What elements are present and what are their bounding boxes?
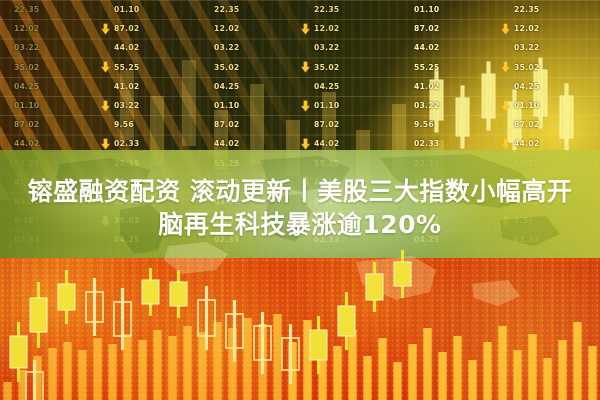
candlestick — [282, 324, 299, 384]
candlestick — [170, 270, 187, 318]
ticker-value: 03.22 — [100, 101, 200, 110]
ticker-value: 35.02 — [300, 63, 400, 72]
candlestick — [30, 282, 47, 348]
ticker-value: 01.10 — [400, 5, 500, 14]
ticker-value: 04.25 — [200, 82, 300, 91]
ticker-value: 22.35 — [0, 5, 100, 14]
candlestick-chart — [0, 240, 600, 400]
ticker-value: 44.02 — [200, 139, 300, 148]
ticker-value: 44.02 — [100, 43, 200, 52]
ticker-value: 03.22 — [200, 43, 300, 52]
ticker-value: 87.02 — [200, 120, 300, 129]
ticker-value: 35.02 — [0, 63, 100, 72]
candlestick — [86, 278, 103, 336]
arrow-down-icon — [101, 138, 110, 149]
ticker-value: 35.02 — [500, 63, 600, 72]
ticker-value: 12.02 — [500, 24, 600, 33]
ticker-value: 03.22 — [0, 43, 100, 52]
ticker-value: 04.25 — [0, 82, 100, 91]
candlestick — [394, 250, 411, 298]
ticker-value: 41.02 — [100, 82, 200, 91]
arrow-down-icon — [301, 138, 310, 149]
arrow-down-icon — [301, 100, 310, 111]
arrow-down-icon — [301, 23, 310, 34]
candlestick — [10, 322, 27, 382]
candlestick — [26, 360, 43, 400]
candlestick — [58, 270, 75, 324]
arrow-down-icon — [501, 138, 510, 149]
arrow-down-icon — [301, 62, 310, 73]
candlestick — [254, 312, 271, 374]
ticker-value: 87.02 — [300, 120, 400, 129]
ticker-value: 01.10 — [100, 5, 200, 14]
ticker-value: 01.10 — [500, 101, 600, 110]
ticker-value: 01.10 — [300, 101, 400, 110]
ticker-value: 12.02 — [300, 24, 400, 33]
ticker-value: 03.22 — [500, 43, 600, 52]
candlestick — [198, 286, 215, 350]
ticker-value: 44.02 — [400, 43, 500, 52]
ticker-value: 41.02 — [400, 82, 500, 91]
ticker-value: 04.25 — [300, 82, 400, 91]
ticker-value: 9.56 — [400, 120, 500, 129]
candlestick — [226, 300, 243, 362]
candlestick — [338, 292, 355, 350]
arrow-down-icon — [101, 100, 110, 111]
ticker-value: 55.25 — [100, 63, 200, 72]
ticker-value: 02.33 — [100, 139, 200, 148]
ticker-value: 22.35 — [200, 5, 300, 14]
candlestick — [142, 268, 159, 316]
ticker-value: 55.25 — [400, 63, 500, 72]
ticker-value: 87.02 — [400, 24, 500, 33]
ticker-value: 22.35 — [500, 5, 600, 14]
arrow-down-icon — [101, 23, 110, 34]
ticker-value: 03.22 — [300, 43, 400, 52]
ticker-value: 02.33 — [400, 139, 500, 148]
arrow-down-icon — [501, 100, 510, 111]
arrow-down-icon — [101, 62, 110, 73]
candlestick — [310, 316, 327, 374]
ticker-value: 87.02 — [500, 120, 600, 129]
ticker-value: 01.10 — [0, 101, 100, 110]
ticker-value: 03.22 — [400, 101, 500, 110]
candlestick — [114, 288, 131, 350]
candlestick — [366, 262, 383, 312]
ticker-value: 44.02 — [500, 139, 600, 148]
ticker-value: 9.56 — [100, 120, 200, 129]
ticker-value: 35.02 — [200, 63, 300, 72]
ticker-value: 12.02 — [0, 24, 100, 33]
ticker-value: 22.35 — [300, 5, 400, 14]
ticker-value: 01.10 — [200, 101, 300, 110]
arrow-down-icon — [501, 62, 510, 73]
ticker-value: 12.02 — [200, 24, 300, 33]
ticker-value: 87.02 — [100, 24, 200, 33]
ticker-value: 87.02 — [0, 120, 100, 129]
news-banner-image: 22.3501.1022.3522.3501.1022.3512.0287.02… — [0, 0, 600, 400]
ticker-value: 44.02 — [300, 139, 400, 148]
ticker-value: 04.25 — [500, 82, 600, 91]
arrow-down-icon — [501, 23, 510, 34]
ticker-value: 44.02 — [0, 139, 100, 148]
